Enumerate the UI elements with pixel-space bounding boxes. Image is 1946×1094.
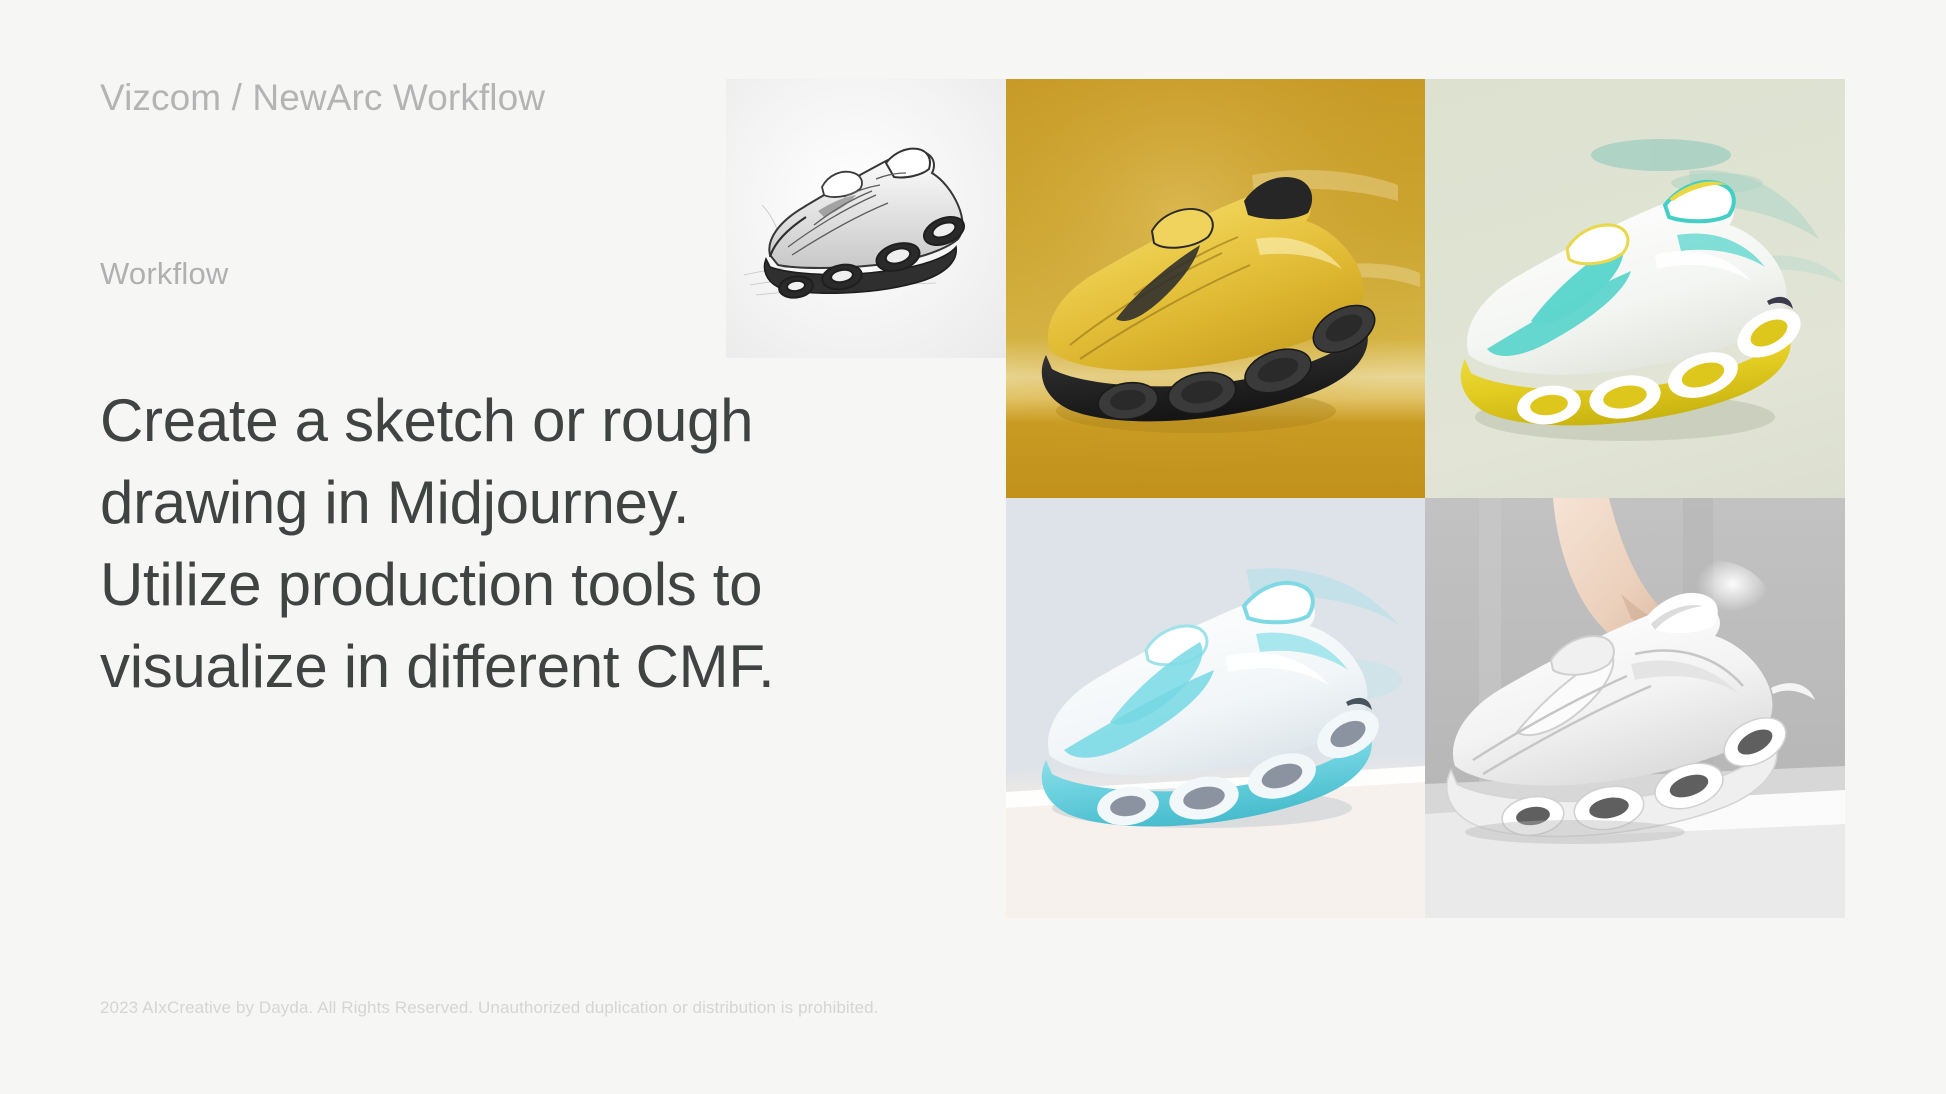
blue-cmf-panel[interactable]	[1006, 498, 1425, 918]
yellow-sneaker-render-image	[1006, 79, 1425, 498]
mint-cmf-panel[interactable]	[1425, 79, 1845, 498]
white-sneaker-on-foot-image	[1425, 498, 1845, 918]
breadcrumb: Vizcom / NewArc Workflow	[100, 77, 545, 119]
yellow-cmf-panel[interactable]	[1006, 79, 1425, 498]
copyright-notice: 2023 AIxCreative by Dayda. All Rights Re…	[100, 998, 879, 1018]
cyan-sneaker-render-image	[1006, 498, 1425, 918]
shoe-cmf-gallery	[726, 79, 1845, 918]
gray-cmf-panel[interactable]	[1425, 498, 1845, 918]
page-title: Create a sketch or rough drawing in Midj…	[100, 380, 800, 708]
sneaker-sketch-image	[726, 79, 1006, 358]
section-eyebrow-label: Workflow	[100, 256, 229, 292]
sketch-panel[interactable]	[726, 79, 1006, 358]
mint-sneaker-render-image	[1425, 79, 1845, 498]
text-column: Vizcom / NewArc Workflow Workflow Create…	[100, 0, 800, 1094]
